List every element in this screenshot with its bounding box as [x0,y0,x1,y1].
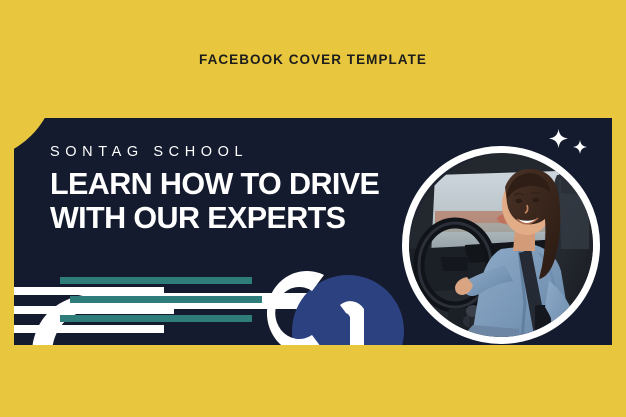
driver-photo-image [409,153,593,337]
driver-photo [402,146,600,344]
headline-line-2: WITH OUR EXPERTS [50,202,400,236]
c-arc-decoration [246,265,334,345]
small-arc-decoration [336,299,376,345]
sparkle-icon [573,140,587,154]
facebook-cover-banner: SONTAG SCHOOL LEARN HOW TO DRIVE WITH OU… [14,118,612,345]
page-title-bar: FACEBOOK COVER TEMPLATE [0,0,626,118]
page-title: FACEBOOK COVER TEMPLATE [199,52,427,67]
headline-line-1: LEARN HOW TO DRIVE [50,168,400,202]
banner-headline: LEARN HOW TO DRIVE WITH OUR EXPERTS [50,168,400,236]
sparkle-icon [549,129,568,148]
brand-name: SONTAG SCHOOL [50,144,400,160]
banner-text-block: SONTAG SCHOOL LEARN HOW TO DRIVE WITH OU… [50,144,400,236]
